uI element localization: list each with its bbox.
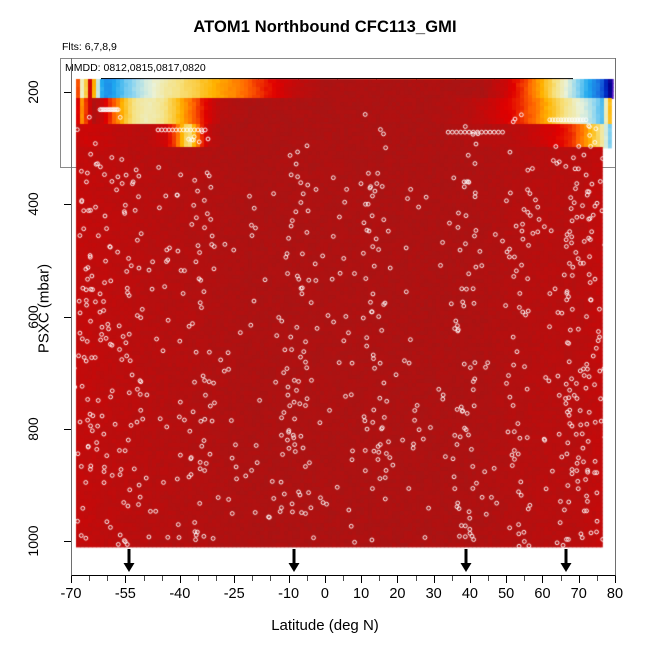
x-axis-tick-label: -55 [115, 586, 136, 602]
y-axis-tick [64, 429, 71, 430]
x-axis-minor-tick [198, 576, 199, 581]
y-axis-tick-label: 800 [25, 404, 41, 454]
y-axis-tick [64, 92, 71, 93]
x-axis-tick-label: 20 [389, 586, 405, 602]
x-axis-minor-tick [452, 576, 453, 581]
flight-segment-arrow [123, 549, 136, 573]
x-axis-minor-tick [379, 576, 380, 581]
x-axis-tick [542, 576, 543, 583]
y-axis-tick-label: 400 [25, 179, 41, 229]
flight-segment-arrow [288, 549, 301, 573]
y-axis-tick [64, 204, 71, 205]
x-axis-minor-tick [270, 576, 271, 581]
x-axis-minor-tick [89, 576, 90, 581]
x-axis-tick-label: 80 [607, 586, 623, 602]
x-axis-tick-label: 10 [353, 586, 369, 602]
x-axis-tick [506, 576, 507, 583]
x-axis-minor-tick [561, 576, 562, 581]
x-axis-tick [234, 576, 235, 583]
x-axis-minor-tick [144, 576, 145, 581]
x-axis-tick [361, 576, 362, 583]
x-axis-minor-tick [216, 576, 217, 581]
x-axis-minor-tick [597, 576, 598, 581]
x-axis-tick-label: 30 [426, 586, 442, 602]
x-axis-tick [397, 576, 398, 583]
x-axis-minor-tick [416, 576, 417, 581]
y-axis-tick [64, 541, 71, 542]
x-axis-tick-label: -70 [61, 586, 82, 602]
x-axis-tick [615, 576, 616, 583]
x-axis-tick [125, 576, 126, 583]
x-axis-minor-tick [162, 576, 163, 581]
x-axis-tick [470, 576, 471, 583]
x-axis-tick [71, 576, 72, 583]
x-axis-minor-tick [524, 576, 525, 581]
x-axis-minor-tick [307, 576, 308, 581]
x-axis-minor-tick [107, 576, 108, 581]
flight-segment-arrow [560, 549, 573, 573]
x-axis-tick-label: 40 [462, 586, 478, 602]
page-title: ATOM1 Northbound CFC113_GMI [0, 18, 650, 37]
y-axis-tick-label: 1000 [25, 516, 41, 566]
x-axis-tick-label: 50 [498, 586, 514, 602]
flights-label: Flts: 6,7,8,9 [62, 41, 117, 53]
x-axis-tick-label: -25 [224, 586, 245, 602]
x-axis-tick-label: -40 [169, 586, 190, 602]
x-axis-tick [180, 576, 181, 583]
x-axis-label: Latitude (deg N) [0, 617, 650, 634]
x-axis-minor-tick [488, 576, 489, 581]
plot-frame [71, 58, 616, 576]
x-axis-tick [434, 576, 435, 583]
x-axis-tick [289, 576, 290, 583]
x-axis-minor-tick [252, 576, 253, 581]
x-axis-minor-tick [343, 576, 344, 581]
flight-segment-arrow [459, 549, 472, 573]
x-axis-tick-label: 60 [534, 586, 550, 602]
plot-root: ATOM1 Northbound CFC113_GMI Flts: 6,7,8,… [0, 0, 650, 650]
x-axis-tick-label: -10 [278, 586, 299, 602]
x-axis-tick-label: 0 [321, 586, 329, 602]
y-axis-tick-label: 200 [25, 67, 41, 117]
y-axis-tick-label: 600 [25, 292, 41, 342]
x-axis-tick-label: 70 [571, 586, 587, 602]
y-axis-tick [64, 317, 71, 318]
x-axis-tick [325, 576, 326, 583]
x-axis-tick [579, 576, 580, 583]
